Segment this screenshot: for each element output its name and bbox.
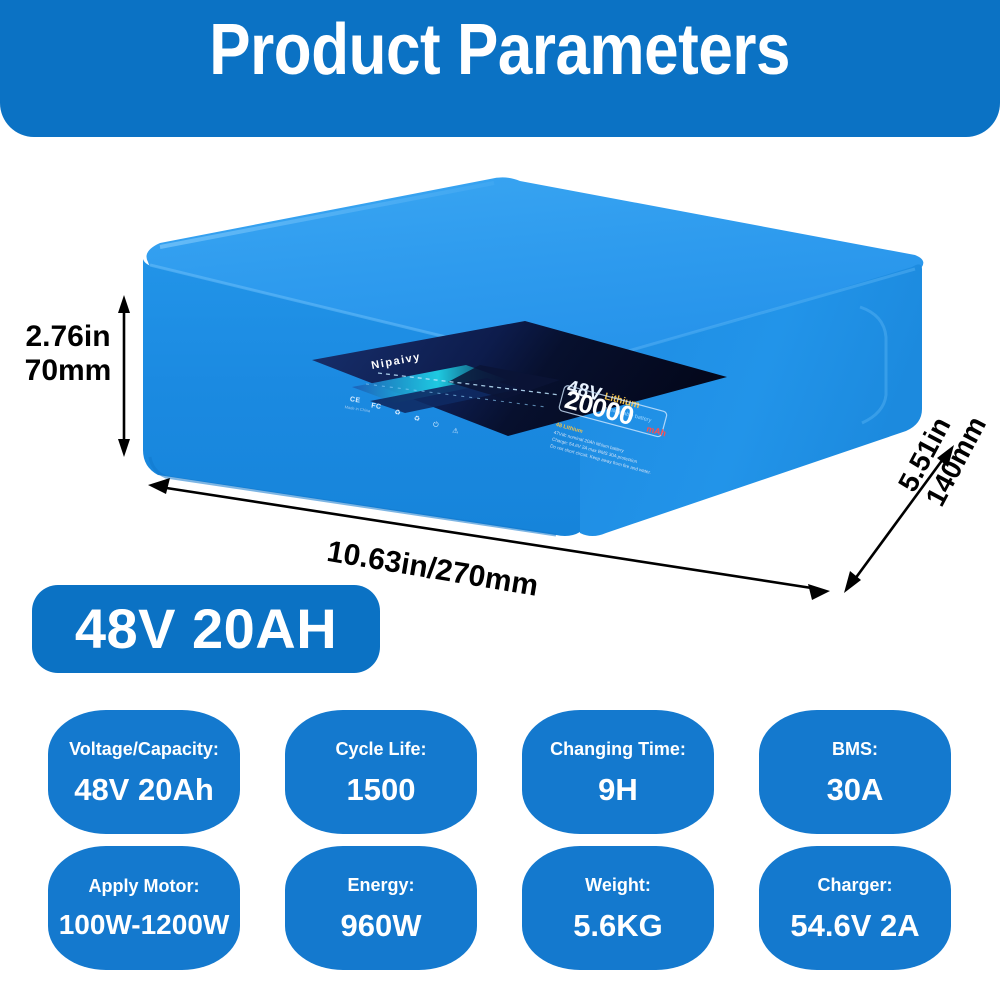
spec-card-value: 5.6KG <box>573 910 663 941</box>
spec-card: Voltage/Capacity:48V 20Ah <box>48 710 240 834</box>
capacity-badge-text: 48V 20AH <box>75 601 337 657</box>
length-arrow-head-left <box>148 478 170 494</box>
spec-card-label: Changing Time: <box>550 740 686 758</box>
spec-card: Apply Motor:100W-1200W <box>48 846 240 970</box>
height-arrow-head-bottom <box>118 439 130 457</box>
recycle-icon: ♻ <box>413 415 420 423</box>
length-arrow-head-right <box>808 584 830 600</box>
spec-card-label: Voltage/Capacity: <box>69 740 219 758</box>
battery-3d-illustration: Nipaivy 48V Lithium rechargeable battery… <box>0 137 1000 600</box>
height-arrow-head-top <box>118 295 130 313</box>
spec-card-value: 48V 20Ah <box>74 774 214 805</box>
spec-card-label: Weight: <box>585 876 651 894</box>
dimension-height-mm: 70mm <box>16 354 120 388</box>
page-title: Product Parameters <box>210 14 791 86</box>
spec-card-grid: Voltage/Capacity:48V 20AhCycle Life:1500… <box>48 710 952 970</box>
spec-card-label: Energy: <box>347 876 414 894</box>
spec-card: Weight:5.6KG <box>522 846 714 970</box>
spec-card-value: 54.6V 2A <box>790 910 919 941</box>
weee-icon: ⚠ <box>452 426 459 435</box>
spec-card-label: Apply Motor: <box>89 877 200 895</box>
capacity-badge: 48V 20AH <box>32 585 380 673</box>
spec-card: BMS:30A <box>759 710 951 834</box>
dimension-height-inches: 2.76in <box>16 320 120 354</box>
spec-card-label: BMS: <box>832 740 878 758</box>
spec-card-value: 1500 <box>347 774 416 805</box>
spec-card-value: 30A <box>827 774 884 805</box>
header-banner: Product Parameters <box>0 0 1000 137</box>
spec-card: Changing Time:9H <box>522 710 714 834</box>
spec-card: Charger:54.6V 2A <box>759 846 951 970</box>
product-illustration: Nipaivy 48V Lithium rechargeable battery… <box>0 137 1000 600</box>
spec-card-value: 100W-1200W <box>59 911 230 939</box>
dimension-height-label: 2.76in 70mm <box>16 320 120 387</box>
rohs-icon: ♻ <box>394 409 401 417</box>
spec-card: Energy:960W <box>285 846 477 970</box>
spec-card: Cycle Life:1500 <box>285 710 477 834</box>
spec-card-value: 960W <box>341 910 422 941</box>
spec-card-label: Charger: <box>817 876 892 894</box>
spec-card-value: 9H <box>598 774 638 805</box>
spec-card-label: Cycle Life: <box>335 740 426 758</box>
